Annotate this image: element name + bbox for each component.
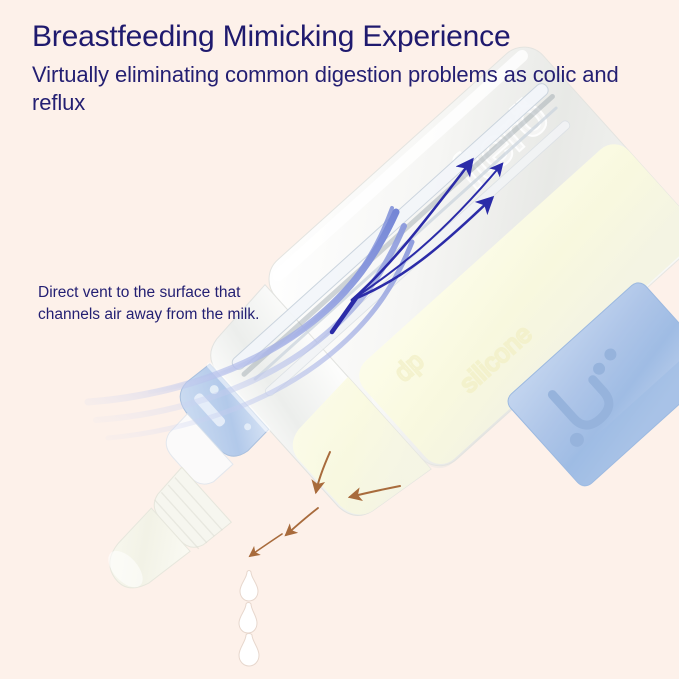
air-arrow-tail (332, 298, 356, 332)
annotation-arrows (0, 0, 679, 679)
milk-arrow (286, 508, 318, 535)
air-arrow (352, 160, 472, 300)
milk-arrows (250, 452, 400, 556)
milk-arrow (250, 534, 282, 556)
air-arrows (332, 160, 502, 332)
milk-arrow (350, 486, 400, 497)
milk-arrow (316, 452, 330, 492)
product-infographic: fterö fterö silicone dp (0, 0, 679, 679)
